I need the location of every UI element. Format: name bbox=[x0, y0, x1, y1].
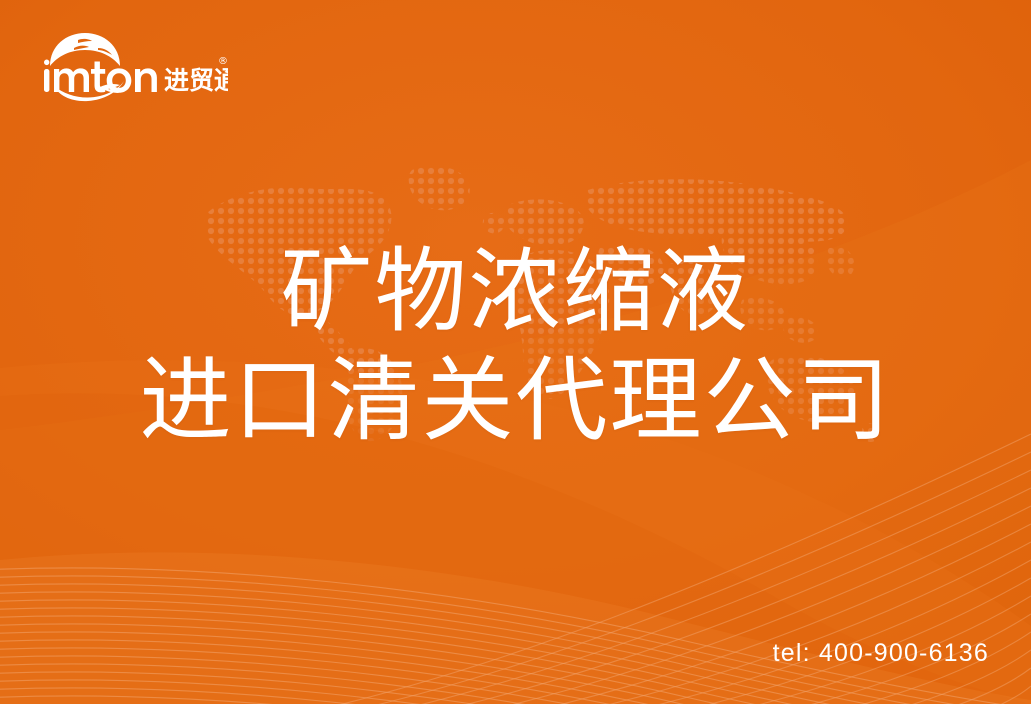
brand-logo[interactable]: 进贸通 ® bbox=[38, 26, 228, 102]
svg-text:进贸通: 进贸通 bbox=[164, 66, 228, 95]
svg-text:®: ® bbox=[218, 56, 228, 67]
headline: 矿物浓缩液 进口清关代理公司 bbox=[0, 238, 1031, 455]
telephone-text: tel: 400-900-6136 bbox=[773, 639, 989, 668]
wordmark-latin bbox=[44, 60, 157, 93]
headline-line-1: 矿物浓缩液 bbox=[0, 238, 1031, 347]
headline-line-2: 进口清关代理公司 bbox=[0, 347, 1031, 456]
promo-banner: 进贸通 ® 矿物浓缩液 进口清关代理公司 tel: 400-900-6136 bbox=[0, 0, 1031, 704]
